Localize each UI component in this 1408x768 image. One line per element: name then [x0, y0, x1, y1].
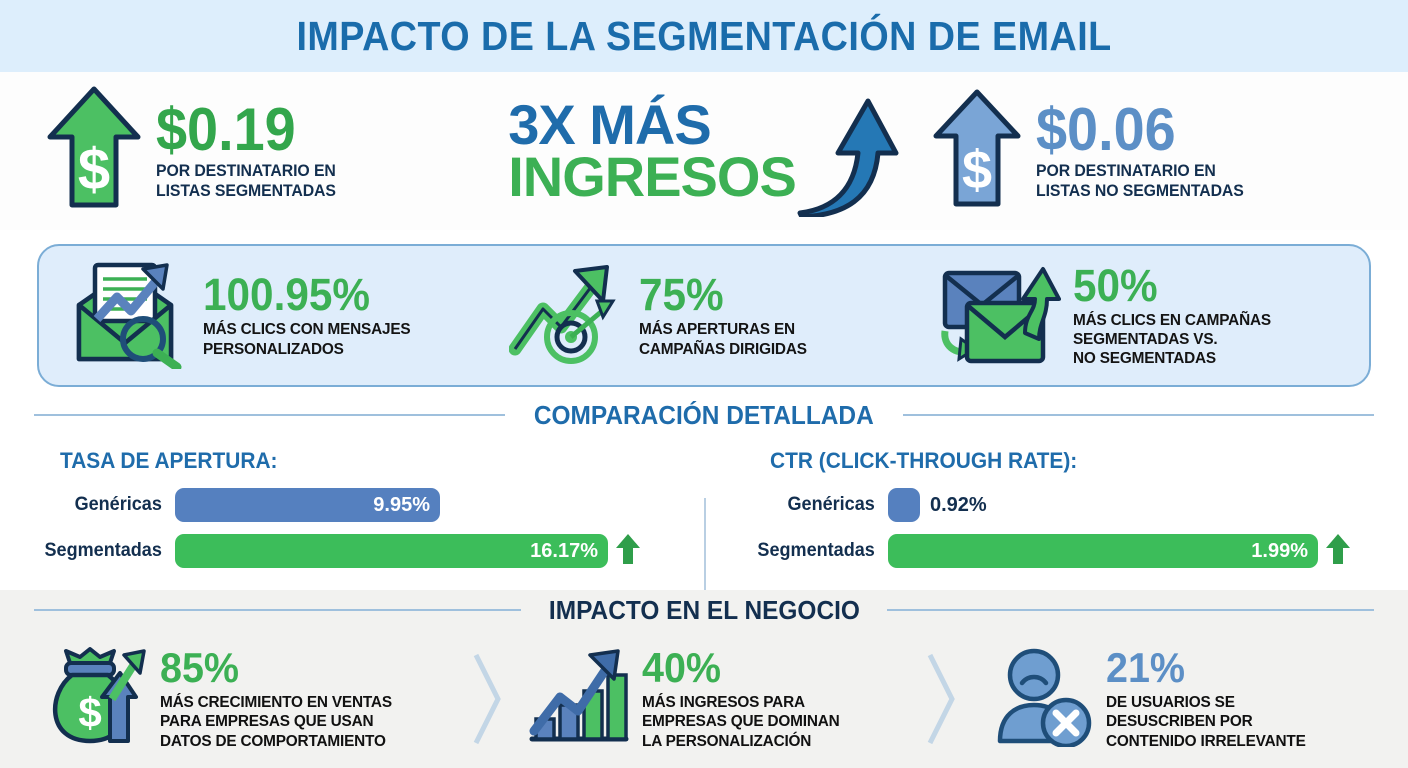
business-divider: IMPACTO EN EL NEGOCIO: [0, 590, 1408, 630]
stat-caption: POR DESTINATARIO EN LISTAS SEGMENTADAS: [156, 162, 336, 201]
highlight-caption-line1: MÁS CLICS EN CAMPAÑAS: [1073, 311, 1271, 330]
business-caption-line3: LA PERSONALIZACIÓN: [642, 732, 840, 751]
highlight-caption-line2: CAMPAÑAS DIRIGIDAS: [639, 340, 807, 359]
bar-generic[interactable]: 9.95%: [175, 488, 440, 522]
highlight-caption: MÁS CLICS EN CAMPAÑAS SEGMENTADAS VS. NO…: [1073, 311, 1271, 369]
business-item-unsubscribe: 21% DE USUARIOS SE DESUSCRIBEN POR CONTE…: [958, 647, 1398, 752]
bar-value: 0.92%: [920, 494, 987, 517]
stat-value: $0.06: [1036, 101, 1237, 158]
highlight-caption-line1: MÁS APERTURAS EN: [639, 320, 807, 339]
bar-label: Genéricas: [34, 494, 172, 516]
stat-caption-line1: POR DESTINATARIO EN: [1036, 162, 1244, 181]
highlight-caption: MÁS CLICS CON MENSAJES PERSONALIZADOS: [203, 320, 410, 358]
envelope-growth-magnifier-icon: [69, 257, 191, 374]
svg-text:$: $: [962, 140, 992, 200]
comparison-section: COMPARACIÓN DETALLADA TASA DE APERTURA: …: [0, 398, 1408, 590]
open-rate-chart: TASA DE APERTURA: Genéricas 9.95% Segmen…: [0, 448, 704, 578]
green-up-arrow-icon: [1326, 534, 1350, 569]
business-value: 40%: [642, 647, 835, 689]
business-caption-line1: MÁS CRECIMIENTO EN VENTAS: [160, 693, 392, 712]
business-item-revenue-personalization: 40% MÁS INGRESOS PARA EMPRESAS QUE DOMIN…: [504, 647, 924, 752]
chart-bar-row: Genéricas 9.95%: [30, 486, 704, 524]
two-envelopes-up-arrow-icon: [939, 259, 1061, 372]
business-items: $ 85% MÁS CRECIMIENTO EN VENTAS PARA EMP…: [0, 636, 1408, 762]
business-caption: MÁS INGRESOS PARA EMPRESAS QUE DOMINAN L…: [642, 693, 840, 751]
ctr-chart: CTR (CLICK-THROUGH RATE): Genéricas 0.92…: [704, 448, 1408, 578]
business-caption-line3: DATOS DE COMPORTAMIENTO: [160, 732, 392, 751]
open-rate-title: TASA DE APERTURA:: [60, 448, 672, 474]
top-stats-row: $ $0.19 POR DESTINATARIO EN LISTAS SEGME…: [0, 72, 1408, 230]
highlight-segmented-clicks: 50% MÁS CLICS EN CAMPAÑAS SEGMENTADAS VS…: [939, 246, 1369, 385]
stat-unsegmented-revenue: $ $0.06 POR DESTINATARIO EN LISTAS NO SE…: [932, 88, 1362, 215]
business-value: 85%: [160, 647, 387, 689]
bar-segmented[interactable]: 1.99%: [888, 534, 1318, 568]
stat-caption: POR DESTINATARIO EN LISTAS NO SEGMENTADA…: [1036, 162, 1244, 201]
business-caption-line1: MÁS INGRESOS PARA: [642, 693, 840, 712]
stat-caption-line1: POR DESTINATARIO EN: [156, 162, 336, 181]
svg-text:$: $: [78, 689, 101, 736]
chart-bar-row: Segmentadas 1.99%: [740, 532, 1408, 570]
divider-rule-left: [34, 609, 521, 611]
bar-label: Segmentadas: [744, 540, 885, 562]
highlight-personalized-clicks: 100.95% MÁS CLICS CON MENSAJES PERSONALI…: [39, 246, 509, 385]
bar-label: Segmentadas: [34, 540, 172, 562]
ctr-title: CTR (CLICK-THROUGH RATE):: [770, 448, 1376, 474]
green-up-arrow-dollar-icon: $: [46, 85, 142, 218]
bar-value: 16.17%: [530, 540, 598, 563]
business-impact-section: IMPACTO EN EL NEGOCIO $ 85% MÁS CRECIMIE: [0, 590, 1408, 768]
comparison-section-title: COMPARACIÓN DETALLADA: [534, 400, 874, 431]
page-title: IMPACTO DE LA SEGMENTACIÓN DE EMAIL: [296, 13, 1111, 60]
stat-caption-line2: LISTAS SEGMENTADAS: [156, 182, 336, 201]
comparison-columns: TASA DE APERTURA: Genéricas 9.95% Segmen…: [0, 448, 1408, 578]
chart-bar-row: Segmentadas 16.17%: [30, 532, 704, 570]
chart-bar-row: Genéricas 0.92%: [740, 486, 1408, 524]
divider-rule-left: [34, 414, 505, 416]
multiplier-line1: 3X MÁS: [508, 99, 796, 151]
highlight-value: 100.95%: [203, 272, 406, 317]
highlight-caption-line3: NO SEGMENTADAS: [1073, 349, 1271, 368]
divider-rule-right: [887, 609, 1374, 611]
divider-rule-right: [903, 414, 1374, 416]
highlight-caption-line2: SEGMENTADAS VS.: [1073, 330, 1271, 349]
business-caption: MÁS CRECIMIENTO EN VENTAS PARA EMPRESAS …: [160, 693, 392, 751]
bar-segmented[interactable]: 16.17%: [175, 534, 608, 568]
highlight-caption: MÁS APERTURAS EN CAMPAÑAS DIRIGIDAS: [639, 320, 807, 358]
svg-text:$: $: [78, 137, 110, 202]
bar-chart-growth-icon: [526, 647, 630, 752]
growth-arrow-target-icon: [509, 261, 627, 370]
business-value: 21%: [1106, 647, 1301, 689]
multiplier-headline: 3X MÁS INGRESOS: [508, 99, 796, 202]
multiplier-line2: INGRESOS: [508, 151, 796, 203]
comparison-divider: COMPARACIÓN DETALLADA: [0, 398, 1408, 432]
money-bag-growth-icon: $: [40, 645, 148, 754]
business-section-title: IMPACTO EN EL NEGOCIO: [549, 595, 860, 626]
highlight-targeted-opens: 75% MÁS APERTURAS EN CAMPAÑAS DIRIGIDAS: [509, 246, 939, 385]
stat-revenue-multiplier: 3X MÁS INGRESOS: [476, 81, 932, 222]
blue-curved-up-arrow-icon: [792, 87, 900, 222]
sad-user-unsubscribe-icon: [992, 647, 1094, 752]
green-up-arrow-icon: [616, 534, 640, 569]
highlights-panel: 100.95% MÁS CLICS CON MENSAJES PERSONALI…: [37, 244, 1371, 387]
bar-value: 1.99%: [1251, 540, 1308, 563]
bar-generic[interactable]: [888, 488, 920, 522]
business-caption-line2: EMPRESAS QUE DOMINAN: [642, 712, 840, 731]
business-caption-line2: DESUSCRIBEN POR: [1106, 712, 1306, 731]
chevron-right-icon: [470, 651, 504, 747]
chevron-right-icon: [924, 651, 958, 747]
stat-segmented-revenue: $ $0.19 POR DESTINATARIO EN LISTAS SEGME…: [46, 85, 476, 218]
highlight-value: 50%: [1073, 263, 1267, 308]
business-caption-line3: CONTENIDO IRRELEVANTE: [1106, 732, 1306, 751]
business-caption-line1: DE USUARIOS SE: [1106, 693, 1306, 712]
blue-up-arrow-dollar-icon: $: [932, 88, 1022, 215]
business-caption-line2: PARA EMPRESAS QUE USAN: [160, 712, 392, 731]
bar-value: 9.95%: [373, 494, 430, 517]
highlight-caption-line2: PERSONALIZADOS: [203, 340, 410, 359]
highlight-caption-line1: MÁS CLICS CON MENSAJES: [203, 320, 410, 339]
highlight-value: 75%: [639, 272, 803, 317]
bar-label: Genéricas: [744, 494, 885, 516]
page-header: IMPACTO DE LA SEGMENTACIÓN DE EMAIL: [0, 0, 1408, 72]
stat-value: $0.19: [156, 101, 330, 158]
business-caption: DE USUARIOS SE DESUSCRIBEN POR CONTENIDO…: [1106, 693, 1306, 751]
stat-caption-line2: LISTAS NO SEGMENTADAS: [1036, 182, 1244, 201]
business-item-sales-growth: $ 85% MÁS CRECIMIENTO EN VENTAS PARA EMP…: [0, 645, 470, 754]
